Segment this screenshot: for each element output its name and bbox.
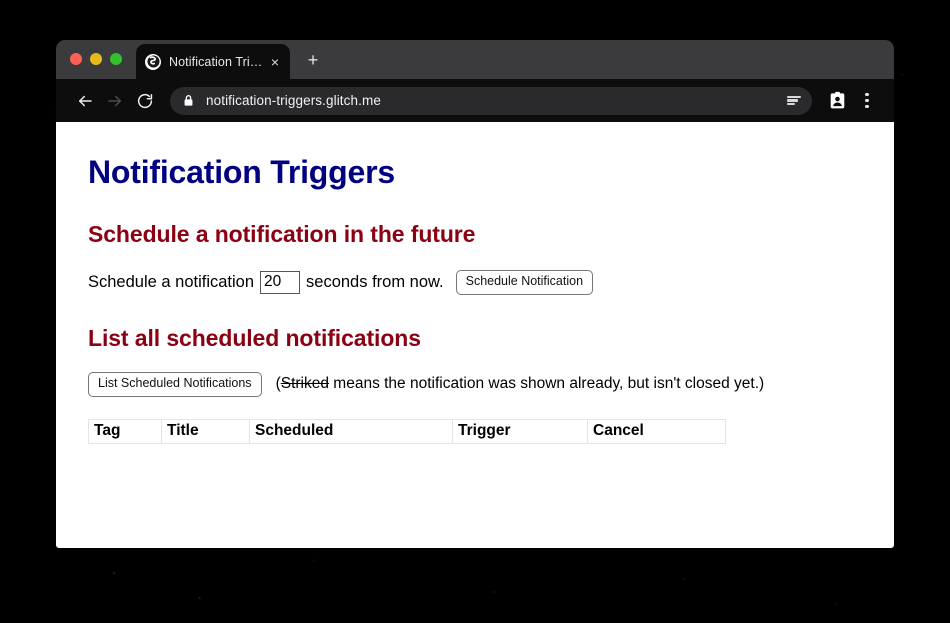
note-rest-text: means the notification was shown already… [329, 375, 764, 392]
column-header-tag: Tag [89, 419, 162, 443]
column-header-title: Title [162, 419, 250, 443]
profile-card-icon[interactable] [822, 86, 852, 116]
schedule-label-prefix: Schedule a notification [88, 273, 254, 292]
maximize-window-button[interactable] [110, 53, 122, 65]
lock-icon [183, 94, 196, 107]
schedule-label-suffix: seconds from now. [306, 273, 444, 292]
note-struck-word: Striked [281, 375, 329, 392]
window-controls [70, 53, 122, 65]
list-scheduled-notifications-button[interactable]: List Scheduled Notifications [88, 372, 262, 397]
browser-window: Notification Triggers Demo × + [56, 40, 894, 548]
seconds-input[interactable] [260, 271, 300, 294]
address-bar-url: notification-triggers.glitch.me [206, 93, 782, 108]
tab-strip: Notification Triggers Demo × + [56, 40, 894, 79]
list-section-heading: List all scheduled notifications [88, 325, 864, 352]
reload-icon[interactable] [130, 86, 160, 116]
browser-toolbar: notification-triggers.glitch.me [56, 79, 894, 122]
column-header-cancel: Cancel [588, 419, 726, 443]
list-controls-row: List Scheduled Notifications (Striked me… [88, 372, 864, 397]
page-title: Notification Triggers [88, 154, 864, 191]
browser-tab[interactable]: Notification Triggers Demo × [136, 44, 290, 79]
table-header-row: Tag Title Scheduled Trigger Cancel [89, 419, 726, 443]
column-header-scheduled: Scheduled [250, 419, 453, 443]
list-menu-icon[interactable] [782, 89, 806, 113]
schedule-notification-button[interactable]: Schedule Notification [456, 270, 593, 295]
strike-legend-note: (Striked means the notification was show… [276, 375, 765, 393]
close-window-button[interactable] [70, 53, 82, 65]
globe-icon [145, 54, 161, 70]
new-tab-button[interactable]: + [302, 49, 324, 71]
back-arrow-icon[interactable] [70, 86, 100, 116]
close-tab-icon[interactable]: × [266, 53, 284, 71]
minimize-window-button[interactable] [90, 53, 102, 65]
three-dot-menu-icon[interactable] [852, 86, 882, 116]
page-content: Notification Triggers Schedule a notific… [56, 122, 894, 548]
forward-arrow-icon[interactable] [100, 86, 130, 116]
schedule-section-heading: Schedule a notification in the future [88, 221, 864, 248]
column-header-trigger: Trigger [453, 419, 588, 443]
schedule-form-row: Schedule a notification seconds from now… [88, 270, 864, 295]
tab-title: Notification Triggers Demo [169, 55, 266, 69]
notifications-table: Tag Title Scheduled Trigger Cancel [88, 419, 726, 444]
address-bar[interactable]: notification-triggers.glitch.me [170, 87, 812, 115]
screen: Notification Triggers Demo × + [0, 0, 950, 623]
